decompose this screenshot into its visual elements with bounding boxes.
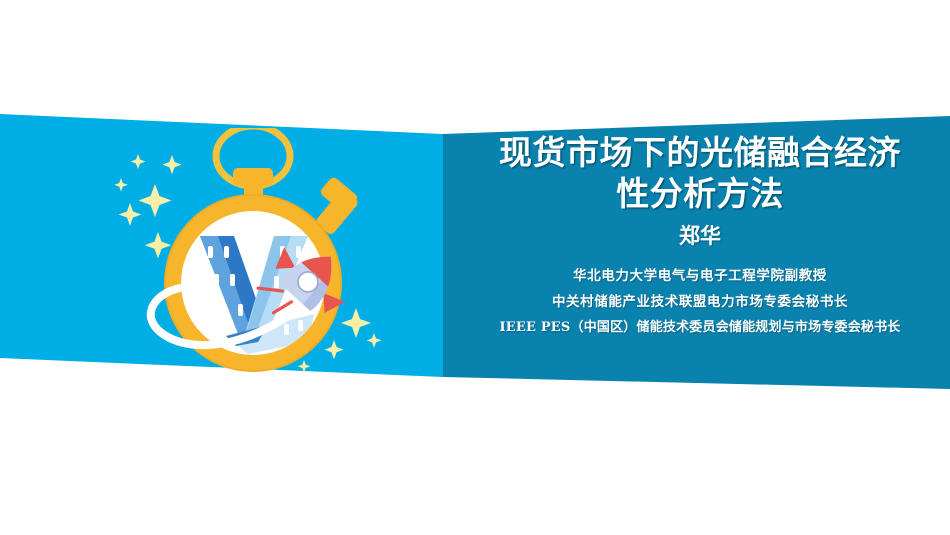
affiliation-item-3: IEEE PES（中国区）储能技术委员会储能规划与市场专委会秘书长 — [450, 315, 950, 341]
title-text-block: 现货市场下的光储融合经济 性分析方法 郑华 华北电力大学电气与电子工程学院副教授… — [450, 132, 950, 372]
affiliation-list: 华北电力大学电气与电子工程学院副教授 中关村储能产业技术联盟电力市场专委会秘书长… — [450, 263, 950, 341]
affiliation-item-2: 中关村储能产业技术联盟电力市场专委会秘书长 — [450, 289, 950, 315]
affiliation-item-1: 华北电力大学电气与电子工程学院副教授 — [450, 263, 950, 289]
stopwatch-illustration — [108, 128, 408, 373]
page-title-line-2: 性分析方法 — [450, 173, 950, 214]
page-title-line-1: 现货市场下的光储融合经济 — [450, 132, 950, 173]
sparkle-stars-left — [114, 154, 181, 258]
author-name: 郑华 — [450, 221, 950, 251]
title-slide: 现货市场下的光储融合经济 性分析方法 郑华 华北电力大学电气与电子工程学院副教授… — [0, 0, 950, 535]
